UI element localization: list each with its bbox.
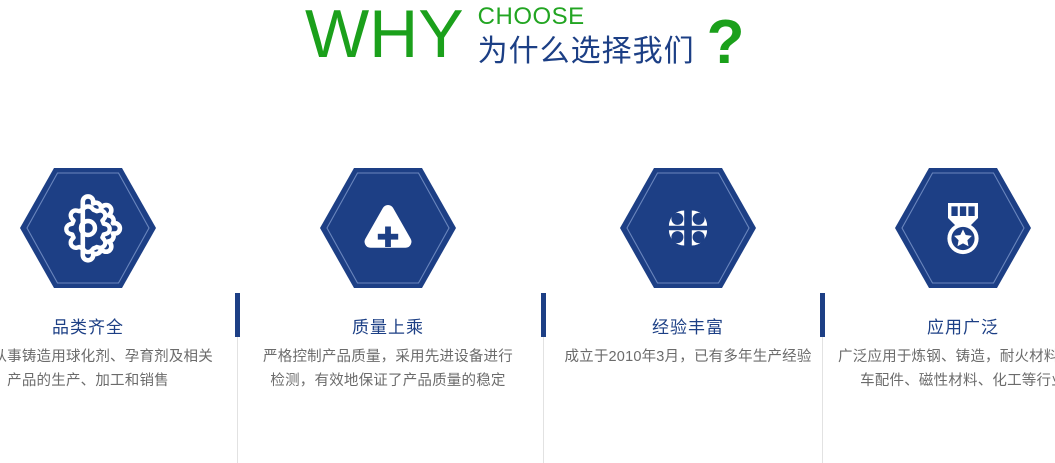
feature-card-2[interactable]: 质量上乘 严格控制产品质量，采用先进设备进行检测，有效地保证了产品质量的稳定 <box>249 140 527 416</box>
features-row: 品类齐全 主要从事铸造用球化剂、孕育剂及相关产品的生产、加工和销售 质量上乘 严… <box>0 140 1055 416</box>
headline-choose: CHOOSE <box>478 4 695 30</box>
feature-card-1[interactable]: 品类齐全 主要从事铸造用球化剂、孕育剂及相关产品的生产、加工和销售 <box>0 140 227 416</box>
feature-description: 成立于2010年3月，已有多年生产经验 <box>559 345 817 369</box>
feature-description: 主要从事铸造用球化剂、孕育剂及相关产品的生产、加工和销售 <box>0 345 217 393</box>
column-divider-1 <box>237 293 238 463</box>
feature-title: 品类齐全 <box>0 317 227 339</box>
hexagon-badge-2 <box>320 168 456 288</box>
headline-why: WHY <box>305 0 464 70</box>
feature-title: 经验丰富 <box>549 317 827 339</box>
headline-subtitle-cn: 为什么选择我们 <box>478 34 695 70</box>
headline-question-mark: ? <box>707 12 745 74</box>
feature-card-3[interactable]: 经验丰富 成立于2010年3月，已有多年生产经验 <box>549 140 827 416</box>
headline-text-stack: CHOOSE 为什么选择我们 <box>478 4 695 70</box>
hexagon-badge-1 <box>20 168 156 288</box>
section-header: WHY CHOOSE 为什么选择我们 ? <box>0 0 1055 100</box>
headline-group: WHY CHOOSE 为什么选择我们 ? <box>305 0 745 74</box>
triangle-plus-icon <box>320 168 456 288</box>
feature-card-4[interactable]: 应用广泛 广泛应用于炼钢、铸造，耐火材料、汽车配件、磁性材料、化工等行业 <box>824 140 1055 416</box>
medal-icon <box>895 168 1031 288</box>
gear-icon <box>20 168 156 288</box>
feature-title: 质量上乘 <box>249 317 527 339</box>
feature-description: 广泛应用于炼钢、铸造，耐火材料、汽车配件、磁性材料、化工等行业 <box>834 345 1055 393</box>
feature-description: 严格控制产品质量，采用先进设备进行检测，有效地保证了产品质量的稳定 <box>259 345 517 393</box>
hexagon-badge-3 <box>620 168 756 288</box>
clover-icon <box>620 168 756 288</box>
feature-title: 应用广泛 <box>824 317 1055 339</box>
column-divider-2 <box>543 293 544 463</box>
hexagon-badge-4 <box>895 168 1031 288</box>
